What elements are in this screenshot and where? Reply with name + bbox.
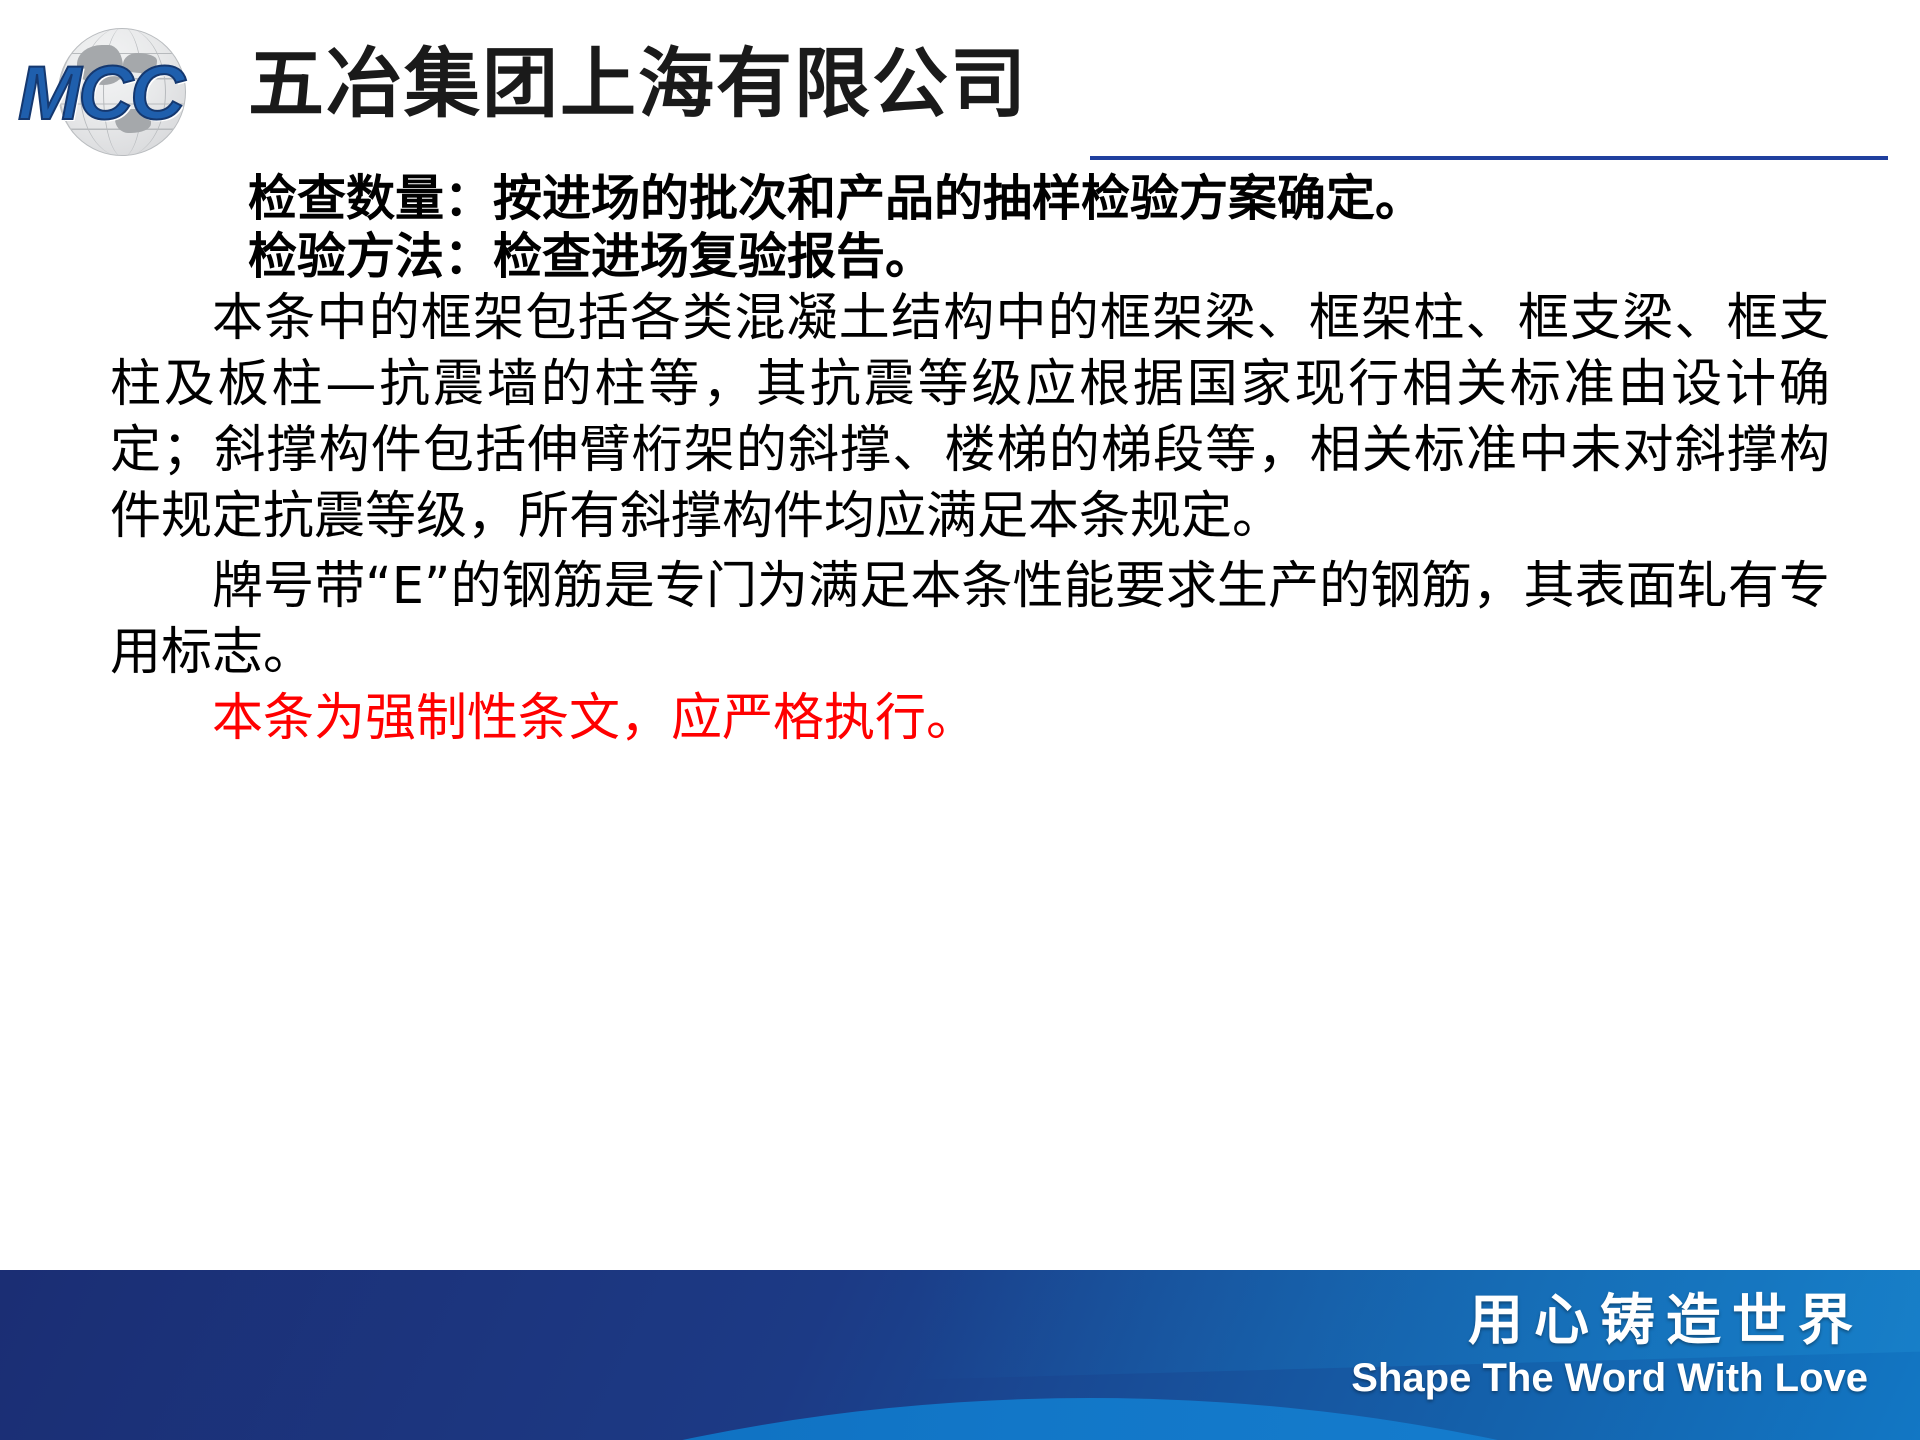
mcc-logo: MCC	[18, 26, 240, 154]
footer-swoosh	[0, 1398, 1920, 1440]
mandatory-clause-note: 本条为强制性条文，应严格执行。	[110, 686, 1830, 752]
footer-slogan: 用心铸造世界 Shape The Word With Love	[1351, 1288, 1868, 1402]
body-paragraph-2: 牌号带“E”的钢筋是专门为满足本条性能要求生产的钢筋，其表面轧有专用标志。	[110, 554, 1830, 686]
inspection-method-line: 检验方法：检查进场复验报告。	[248, 228, 1920, 286]
slide-header: MCC 五冶集团上海有限公司	[0, 0, 1920, 168]
slogan-chinese: 用心铸造世界	[1351, 1288, 1868, 1352]
slogan-english: Shape The Word With Love	[1351, 1354, 1868, 1402]
slide-footer: 用心铸造世界 Shape The Word With Love	[0, 1270, 1920, 1440]
logo-wordmark: MCC	[18, 56, 240, 132]
slide: MCC 五冶集团上海有限公司 检查数量：按进场的批次和产品的抽样检验方案确定。 …	[0, 0, 1920, 1440]
header-divider	[1090, 156, 1888, 160]
slide-body: 检查数量：按进场的批次和产品的抽样检验方案确定。 检验方法：检查进场复验报告。 …	[0, 170, 1920, 752]
inspection-quantity-line: 检查数量：按进场的批次和产品的抽样检验方案确定。	[248, 170, 1920, 228]
company-name: 五冶集团上海有限公司	[248, 38, 1028, 130]
body-paragraph-1: 本条中的框架包括各类混凝土结构中的框架梁、框架柱、框支梁、框支柱及板柱—抗震墙的…	[110, 286, 1830, 550]
